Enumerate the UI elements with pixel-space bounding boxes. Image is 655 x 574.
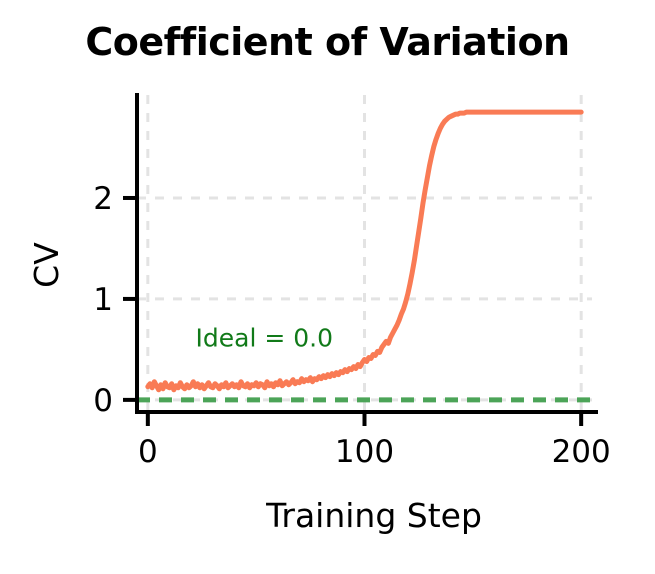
- y-axis-tick-label: 2: [93, 181, 113, 217]
- plot-area: 0100200012 Ideal = 0.0 Training Step CV: [0, 0, 655, 574]
- axis-tick-labels: 0100200012: [93, 181, 610, 470]
- y-axis-title: CV: [27, 242, 66, 288]
- x-axis-tick-label: 100: [335, 434, 394, 470]
- y-axis-tick-label: 1: [93, 282, 113, 318]
- x-axis-tick-label: 0: [138, 434, 158, 470]
- y-axis-tick-label: 0: [93, 383, 113, 419]
- chart-figure: Coefficient of Variation 0100200012 Idea…: [0, 0, 655, 574]
- x-axis-title: Training Step: [265, 496, 482, 535]
- chart-annotations: Ideal = 0.0: [196, 323, 334, 352]
- gridlines: [137, 95, 592, 412]
- axis-ticks: [123, 198, 581, 426]
- ideal-annotation-label: Ideal = 0.0: [196, 323, 334, 352]
- x-axis-tick-label: 200: [552, 434, 611, 470]
- axis-spines: [135, 93, 598, 412]
